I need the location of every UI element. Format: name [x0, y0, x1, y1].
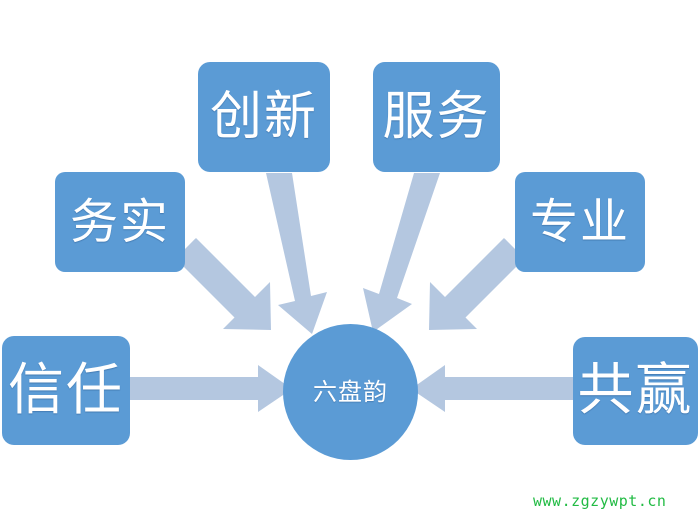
node-fuwu-label: 服务 — [382, 91, 490, 143]
node-chuangxin-label: 创新 — [210, 91, 318, 143]
arrow-xinren — [130, 365, 292, 412]
arrow-fuwu — [363, 173, 440, 332]
node-gongying-label: 共赢 — [578, 363, 694, 419]
arrow-wushi-shaft — [176, 239, 265, 329]
diagram-canvas: 创新 服务 务实 专业 信任 共赢 六盘韵 www.zgzywpt.cn — [0, 0, 700, 525]
node-xinren-label: 信任 — [8, 363, 124, 419]
arrow-zhuanye-shaft — [435, 239, 524, 329]
node-fuwu[interactable]: 服务 — [373, 62, 500, 172]
node-chuangxin[interactable]: 创新 — [198, 62, 330, 172]
arrow-gongying — [411, 365, 573, 412]
node-zhuanye[interactable]: 专业 — [515, 172, 645, 272]
arrow-chuangxin — [266, 173, 327, 334]
node-xinren[interactable]: 信任 — [2, 336, 130, 445]
node-center-label: 六盘韵 — [313, 380, 388, 404]
node-gongying[interactable]: 共赢 — [573, 337, 698, 445]
node-zhuanye-label: 专业 — [530, 198, 630, 246]
node-center[interactable]: 六盘韵 — [283, 324, 418, 460]
watermark: www.zgzywpt.cn — [533, 492, 666, 510]
node-wushi[interactable]: 务实 — [55, 172, 185, 272]
node-wushi-label: 务实 — [70, 198, 170, 246]
